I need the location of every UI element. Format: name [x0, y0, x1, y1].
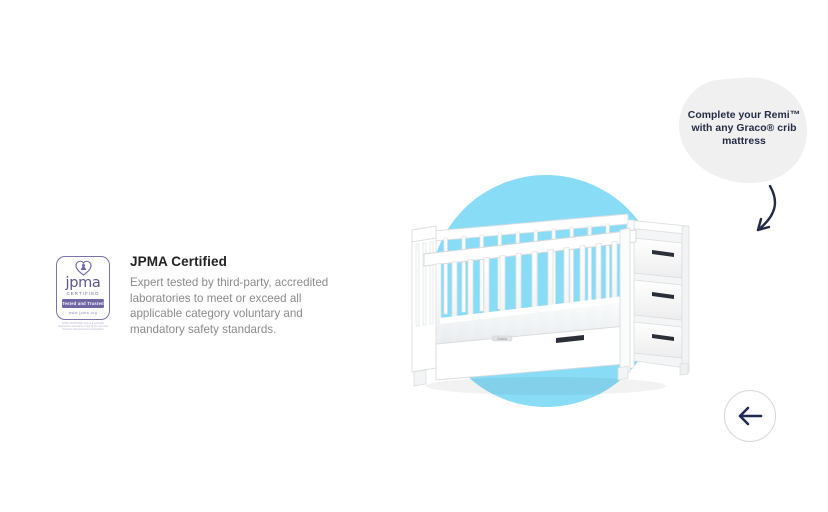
jpma-badge-banner: Tested and Trusted [62, 299, 104, 308]
arrow-left-icon [737, 406, 763, 426]
callout-text: Complete your Remi™ with any Graco® crib… [686, 109, 802, 149]
jpma-heart-icon [75, 260, 92, 276]
crib-product-image: Graco [396, 168, 696, 413]
jpma-badge-url: www.jpma.org [69, 311, 98, 315]
jpma-feature-text: JPMA Certified Expert tested by third-pa… [130, 252, 348, 337]
product-hero: Graco [396, 168, 696, 413]
jpma-feature-title: JPMA Certified [130, 254, 348, 269]
jpma-badge-frame: jpma CERTIFIED Tested and Trusted www.jp… [56, 256, 110, 320]
jpma-badge-fine-print: JPMA CERTIFIED seal is a federally regis… [58, 322, 108, 331]
jpma-badge-subtitle: CERTIFIED [67, 291, 100, 296]
carousel-previous-button[interactable] [724, 390, 776, 442]
jpma-certified-badge: jpma CERTIFIED Tested and Trusted www.jp… [56, 256, 112, 328]
jpma-feature-description: Expert tested by third-party, accredited… [130, 275, 348, 337]
jpma-wordmark: jpma [65, 277, 100, 290]
curved-arrow-down-left-icon [728, 182, 790, 244]
jpma-feature-block: jpma CERTIFIED Tested and Trusted www.jp… [56, 252, 376, 337]
mattress-callout: Complete your Remi™ with any Graco® crib… [676, 76, 812, 186]
page-canvas: jpma CERTIFIED Tested and Trusted www.jp… [0, 0, 828, 512]
crib-brand-plate: Graco [497, 337, 507, 341]
